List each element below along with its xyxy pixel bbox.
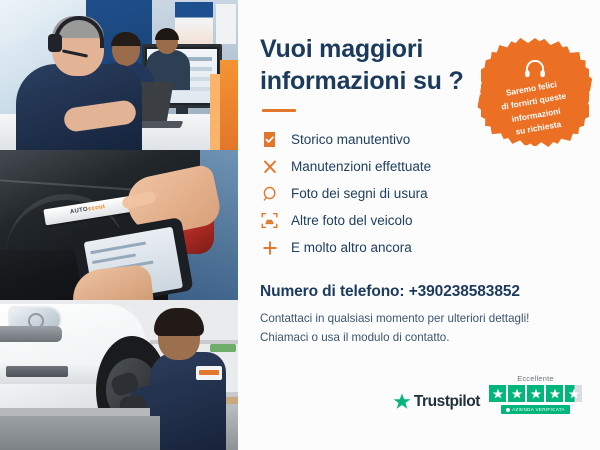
promo-card: AUTOscout bbox=[0, 0, 600, 450]
headset-earcup bbox=[48, 34, 62, 52]
feature-list: Storico manutentivo Manutenzioni effettu… bbox=[260, 126, 578, 261]
orange-equipment-2 bbox=[210, 74, 220, 150]
trustpilot-wordmark: Trustpilot bbox=[414, 393, 480, 411]
feature-item-molto-altro[interactable]: E molto altro ancora bbox=[260, 234, 578, 261]
feature-item-foto-segni-usura[interactable]: Foto dei segni di usura bbox=[260, 180, 578, 207]
star-4 bbox=[546, 385, 563, 402]
feature-item-altre-foto-veicolo[interactable]: Altre foto del veicolo bbox=[260, 207, 578, 234]
shelf-item bbox=[210, 344, 236, 352]
feature-item-manutenzioni-effettuate[interactable]: Manutenzioni effettuate bbox=[260, 153, 578, 180]
rating-label: Eccellente bbox=[517, 374, 554, 383]
star-1 bbox=[489, 385, 506, 402]
lift-platform-top bbox=[0, 408, 150, 416]
verified-badge: AZIENDA VERIFICATA bbox=[501, 405, 570, 414]
lift-platform bbox=[0, 416, 160, 450]
trustpilot-logo: Trustpilot bbox=[393, 393, 480, 414]
contact-line-2: Chiamaci o usa il modulo di contatto. bbox=[260, 329, 578, 348]
strip-logo: AUTOscout bbox=[70, 204, 106, 215]
contact-description: Contattaci in qualsiasi momento per ulte… bbox=[260, 310, 578, 348]
contact-line-1: Contattaci in qualsiasi momento per ulte… bbox=[260, 310, 578, 329]
tablet-row bbox=[92, 253, 136, 264]
feature-label: E molto altro ancora bbox=[291, 240, 412, 255]
star-rating bbox=[489, 385, 582, 402]
feature-label: Foto dei segni di usura bbox=[291, 186, 428, 201]
orange-equipment bbox=[220, 60, 238, 150]
mechanic-wheel-photo bbox=[0, 300, 238, 450]
car-frame-icon bbox=[260, 212, 279, 229]
feature-label: Manutenzioni effettuate bbox=[291, 159, 431, 174]
uniform-logo-patch bbox=[196, 366, 222, 380]
star-3 bbox=[527, 385, 544, 402]
trustpilot-rating: Eccellente AZIENDA VERIFICATA bbox=[489, 374, 582, 414]
trustpilot-widget[interactable]: Trustpilot Eccellente AZIENDA VERIFICATA bbox=[393, 374, 582, 414]
vehicle-inspection-photo: AUTOscout bbox=[0, 150, 238, 300]
wall-poster bbox=[175, 2, 213, 48]
tablet-row bbox=[90, 242, 146, 255]
plus-icon bbox=[260, 240, 279, 256]
document-check-icon bbox=[260, 131, 279, 148]
tools-cross-icon bbox=[260, 159, 279, 175]
mechanic-hair bbox=[154, 308, 204, 336]
car-grille bbox=[0, 326, 62, 342]
verified-label: AZIENDA VERIFICATA bbox=[512, 407, 565, 412]
phone-number[interactable]: Numero di telefono: +390238583852 bbox=[260, 283, 578, 301]
title-divider bbox=[262, 109, 296, 112]
trustpilot-star-icon bbox=[393, 393, 411, 411]
callout-badge: Saremo felici di fornirti queste informa… bbox=[481, 38, 589, 146]
photo-column: AUTOscout bbox=[0, 0, 238, 450]
check-icon bbox=[506, 408, 510, 412]
feature-label: Altre foto del veicolo bbox=[291, 213, 413, 228]
call-center-agent-photo bbox=[0, 0, 238, 150]
feature-label: Storico manutentivo bbox=[291, 132, 410, 147]
star-2 bbox=[508, 385, 525, 402]
bumper-intake bbox=[6, 366, 68, 377]
content-panel: Vuoi maggiori informazioni su ? Saremo f… bbox=[238, 0, 600, 450]
magnifier-icon bbox=[260, 186, 279, 202]
star-5-partial bbox=[565, 385, 582, 402]
wall-poster-2 bbox=[216, 4, 236, 44]
